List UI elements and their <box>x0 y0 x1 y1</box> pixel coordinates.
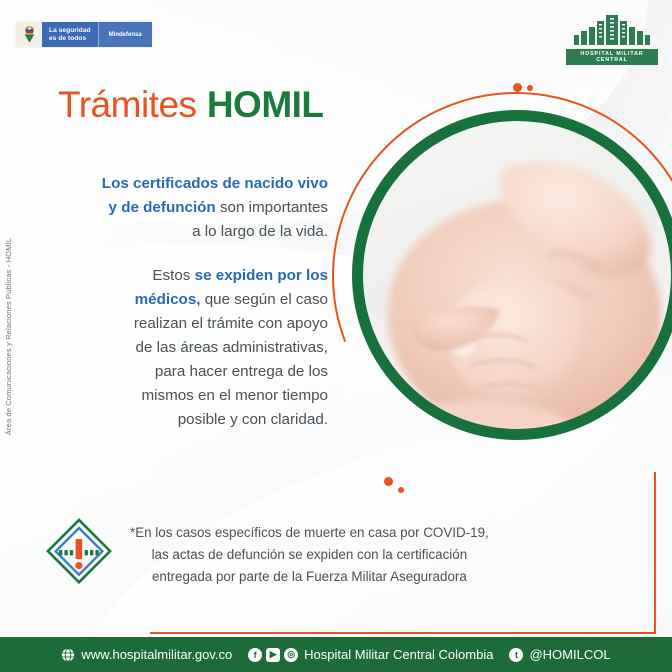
ministry-label: Mindefensa <box>98 22 152 47</box>
gov-tagline-line2: es de todos <box>49 35 91 43</box>
globe-icon <box>61 648 75 662</box>
paragraph-1-line-3: a lo largo de la vida. <box>40 220 328 244</box>
footer-social-icons: f ▶ ◎ <box>248 648 298 662</box>
covid-note-line-2: las actas de defunción se expiden con la… <box>130 544 489 566</box>
footer-twitter-handle: @HOMILCOL <box>529 647 610 662</box>
hospital-building-icon <box>566 14 658 48</box>
covid-note-line-1: *En los casos específicos de muerte en c… <box>130 522 489 544</box>
p2-l2-rest: que según el caso <box>201 291 329 308</box>
orange-dot-small-top <box>527 85 533 91</box>
youtube-icon[interactable]: ▶ <box>266 648 280 662</box>
paragraph-2-line-2: médicos, que según el caso <box>40 288 328 312</box>
twitter-icon[interactable]: t <box>509 648 523 662</box>
paragraph-1-line-1: Los certificados de nacido vivo <box>40 172 328 196</box>
paragraph-spacer <box>40 244 328 264</box>
page-title: Trámites HOMIL <box>58 86 324 123</box>
covid-note-line-3: entregada por parte de la Fuerza Militar… <box>130 566 489 588</box>
paragraph-2-line-5: para hacer entrega de los <box>40 360 328 384</box>
government-logo: La seguridad es de todos Mindefensa <box>16 22 152 47</box>
p2-l2-bold: médicos, <box>135 291 201 308</box>
hospital-logo: HOSPITAL MILITAR CENTRAL <box>566 14 658 65</box>
facebook-icon[interactable]: f <box>248 648 262 662</box>
paragraph-2-line-6: mismos en el menor tiempo <box>40 384 328 408</box>
footer-social[interactable]: f ▶ ◎ Hospital Militar Central Colombia <box>248 647 493 662</box>
footer-website-text: www.hospitalmilitar.gov.co <box>81 647 232 662</box>
footer-bar: www.hospitalmilitar.gov.co f ▶ ◎ Hospita… <box>0 637 672 672</box>
footer-twitter[interactable]: t @HOMILCOL <box>509 647 610 662</box>
side-credit: Área de Comunicaciones y Relaciones Públ… <box>0 0 20 672</box>
body-copy: Los certificados de nacido vivo y de def… <box>40 172 328 432</box>
hospital-logo-name: HOSPITAL MILITAR CENTRAL <box>566 49 658 65</box>
gov-tagline-line1: La seguridad <box>49 27 91 35</box>
footer-website[interactable]: www.hospitalmilitar.gov.co <box>61 647 232 662</box>
warning-diamond-exclamation-icon <box>42 512 116 598</box>
page-title-orange: Trámites <box>58 84 197 125</box>
paragraph-2-line-3: realizan el trámite con apoyo <box>40 312 328 336</box>
p2-l1-pre: Estos <box>152 267 194 284</box>
covid-note-text: *En los casos específicos de muerte en c… <box>130 522 489 588</box>
instagram-icon[interactable]: ◎ <box>284 648 298 662</box>
side-credit-text: Área de Comunicaciones y Relaciones Públ… <box>5 237 14 434</box>
p1-l1-bold: Los certificados de nacido vivo <box>102 175 328 192</box>
paragraph-2-line-4: de las áreas administrativas, <box>40 336 328 360</box>
poster-canvas: La seguridad es de todos Mindefensa <box>0 0 672 672</box>
orange-dot-large-top <box>513 83 522 92</box>
p2-l1-bold: se expiden por los <box>195 267 328 284</box>
paragraph-1-line-2: y de defunción son importantes <box>40 196 328 220</box>
gov-tagline: La seguridad es de todos <box>42 22 98 47</box>
p1-l2-rest: son importantes <box>216 199 328 216</box>
covid-note-block: *En los casos específicos de muerte en c… <box>42 512 489 598</box>
p1-l2-bold: y de defunción <box>109 199 216 216</box>
paragraph-2-line-7: posible y con claridad. <box>40 408 328 432</box>
footer-social-name: Hospital Militar Central Colombia <box>304 647 493 662</box>
page-title-green: HOMIL <box>207 84 324 125</box>
paragraph-2-line-1: Estos se expiden por los <box>40 264 328 288</box>
orange-decorative-arc <box>273 33 672 519</box>
